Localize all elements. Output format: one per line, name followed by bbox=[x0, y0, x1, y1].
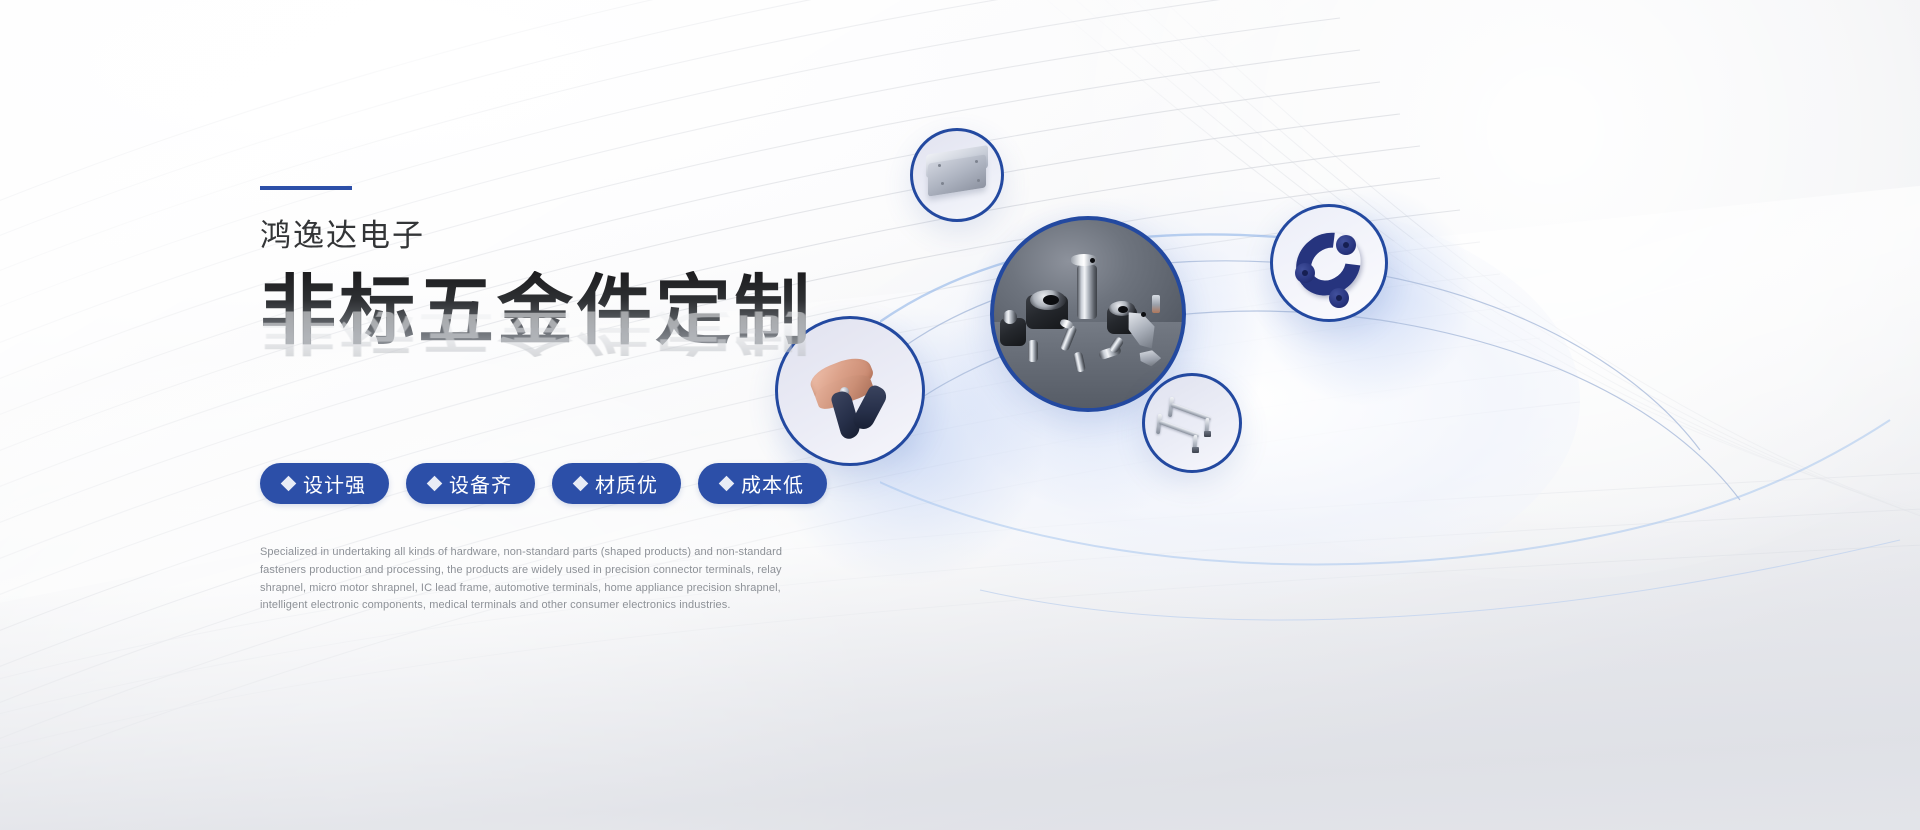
brand-name: 鸿逸达电子 bbox=[260, 220, 900, 251]
feature-pill-equipment[interactable]: 设备齐 bbox=[406, 463, 535, 504]
part-turned-cylinder bbox=[1077, 265, 1097, 319]
enclosure-screw-dot bbox=[975, 160, 978, 163]
feature-pill-label: 成本低 bbox=[741, 469, 804, 498]
company-description: Specialized in undertaking all kinds of … bbox=[260, 544, 820, 615]
page-title: 非标五金件定制 bbox=[260, 271, 900, 353]
product-showcase bbox=[880, 120, 1920, 680]
hero-copy: 鸿逸达电子 非标五金件定制 非标五金件定制 设计强 设备齐 材质优 成本低 bbox=[260, 186, 900, 615]
bracket-upper-tip bbox=[1204, 431, 1211, 437]
diamond-icon bbox=[281, 476, 297, 492]
retaining-clip-lug bbox=[1329, 288, 1349, 308]
bracket-lower-tip bbox=[1192, 447, 1199, 453]
feature-pill-list: 设计强 设备齐 材质优 成本低 bbox=[260, 463, 900, 504]
headline-group: 非标五金件定制 非标五金件定制 bbox=[260, 271, 900, 411]
part-copper-tipped-stud bbox=[1152, 295, 1160, 313]
retaining-clip-lug bbox=[1336, 235, 1356, 255]
part-lever-hole bbox=[1141, 312, 1146, 317]
showcase-bubble-retaining-clip[interactable] bbox=[1270, 204, 1388, 322]
feature-pill-design[interactable]: 设计强 bbox=[260, 463, 389, 504]
part-stud bbox=[1028, 340, 1038, 362]
feature-pill-label: 设备齐 bbox=[449, 469, 512, 498]
feature-pill-material[interactable]: 材质优 bbox=[552, 463, 681, 504]
hero-banner: 鸿逸达电子 非标五金件定制 非标五金件定制 设计强 设备齐 材质优 成本低 bbox=[0, 0, 1920, 830]
showcase-bubble-bent-pin-brackets[interactable] bbox=[1142, 373, 1242, 473]
divider-rule bbox=[260, 186, 352, 190]
showcase-bubble-precision-metal-parts[interactable] bbox=[990, 216, 1186, 412]
diamond-icon bbox=[719, 476, 735, 492]
showcase-bubble-sheet-metal-enclosure[interactable] bbox=[910, 128, 1004, 222]
feature-pill-cost[interactable]: 成本低 bbox=[698, 463, 827, 504]
feature-pill-label: 材质优 bbox=[595, 469, 658, 498]
part-cap-hole bbox=[1090, 258, 1095, 263]
feature-pill-label: 设计强 bbox=[303, 469, 366, 498]
diamond-icon bbox=[427, 476, 443, 492]
diamond-icon bbox=[573, 476, 589, 492]
